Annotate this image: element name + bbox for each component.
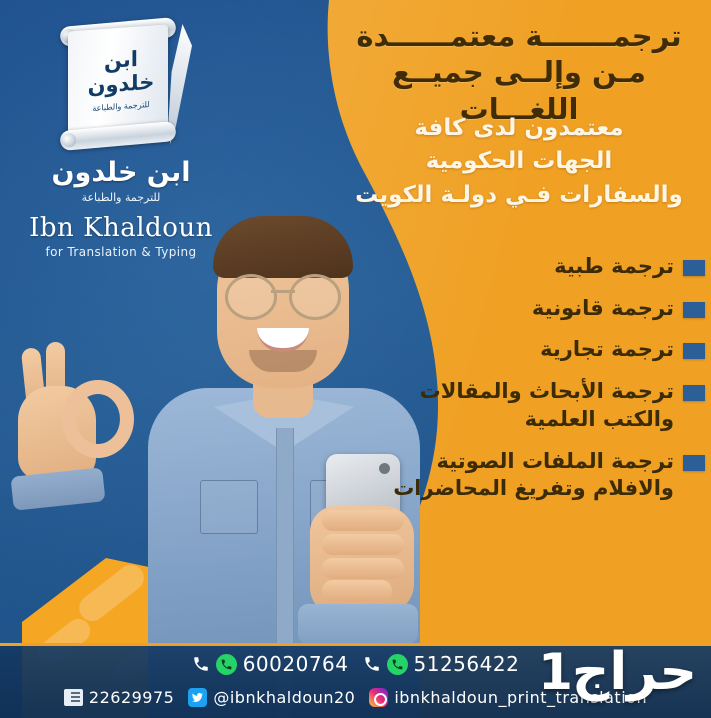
scroll-logo-icon: ابن خلدون للترجمة والطباعة [46, 14, 196, 146]
ok-ring [62, 380, 134, 458]
hair [213, 216, 353, 278]
twitter-handle[interactable]: @ibnkhaldoun20 [188, 688, 355, 707]
bullet-square-icon [683, 455, 705, 471]
service-label: ترجمة قانونية [387, 295, 674, 323]
bullet-square-icon [683, 343, 705, 359]
headline-line-1: ترجمـــــــة معتمــــــدة [339, 18, 699, 54]
subheadline: معتمدون لدى كافة الجهات الحكومية والسفار… [339, 112, 699, 212]
company-logo-block: ابن خلدون للترجمة والطباعة ابن خلدون للت… [8, 14, 234, 259]
service-item: ترجمة الأبحاث والمقالات والكتب العلمية [387, 378, 705, 433]
service-item: ترجمة قانونية [387, 295, 705, 323]
finger [322, 558, 404, 579]
services-list: ترجمة طبية ترجمة قانونية ترجمة تجارية تر… [387, 253, 705, 517]
phone-contact-1[interactable]: 60020764 [192, 652, 349, 676]
headline: ترجمـــــــة معتمــــــدة مـن وإلــى جمي… [339, 18, 699, 127]
brand-name-arabic: ابن خلدون [8, 158, 234, 188]
service-label: ترجمة تجارية [387, 336, 674, 364]
instagram-icon [369, 688, 388, 707]
eyeglasses [225, 274, 341, 314]
bullet-square-icon [683, 302, 705, 318]
bullet-square-icon [683, 260, 705, 276]
whatsapp-icon [216, 654, 237, 675]
twitter-username: @ibnkhaldoun20 [213, 688, 355, 707]
ok-hand-gesture [6, 350, 126, 500]
sleeve-cuff [298, 604, 418, 644]
lens-left [225, 274, 277, 320]
watermark-text: حراج [572, 642, 697, 702]
fax-machine-icon [64, 689, 83, 706]
lens-right [289, 274, 341, 320]
watermark-number: 1 [538, 643, 572, 701]
bullet-square-icon [683, 385, 705, 401]
glasses-bridge [271, 290, 295, 293]
brand-tagline-english: for Translation & Typing [8, 245, 234, 259]
phone-icon [192, 655, 210, 673]
subheadline-line-3: والسفارات فـي دولـة الكويت [339, 179, 699, 212]
finger [322, 580, 392, 601]
finger [322, 534, 404, 555]
twitter-icon [188, 688, 207, 707]
brand-tagline-arabic: للترجمة والطباعة [8, 191, 234, 204]
whatsapp-icon [387, 654, 408, 675]
landline-number: 22629975 [89, 688, 174, 707]
advertisement-poster: ابن خلدون للترجمة والطباعة ابن خلدون للت… [0, 0, 711, 718]
service-label: ترجمة الأبحاث والمقالات والكتب العلمية [387, 378, 674, 433]
shirt-pocket-left [200, 480, 258, 534]
phone-number-2: 51256422 [414, 652, 520, 676]
scroll-cap [62, 133, 77, 148]
watermark: حراج 1 [538, 642, 697, 702]
brand-name-english: Ibn Khaldoun [8, 213, 234, 243]
landline-contact[interactable]: 22629975 [64, 688, 174, 707]
service-label: ترجمة الملفات الصوتية والافلام وتفريغ ال… [387, 448, 674, 503]
service-item: ترجمة تجارية [387, 336, 705, 364]
subheadline-line-2: الجهات الحكومية [339, 145, 699, 178]
phone-icon [363, 655, 381, 673]
service-label: ترجمة طبية [387, 253, 674, 281]
service-item: ترجمة الملفات الصوتية والافلام وتفريغ ال… [387, 448, 705, 503]
subheadline-line-1: معتمدون لدى كافة [339, 112, 699, 145]
phone-number-1: 60020764 [243, 652, 349, 676]
service-item: ترجمة طبية [387, 253, 705, 281]
phone-contact-2[interactable]: 51256422 [363, 652, 520, 676]
